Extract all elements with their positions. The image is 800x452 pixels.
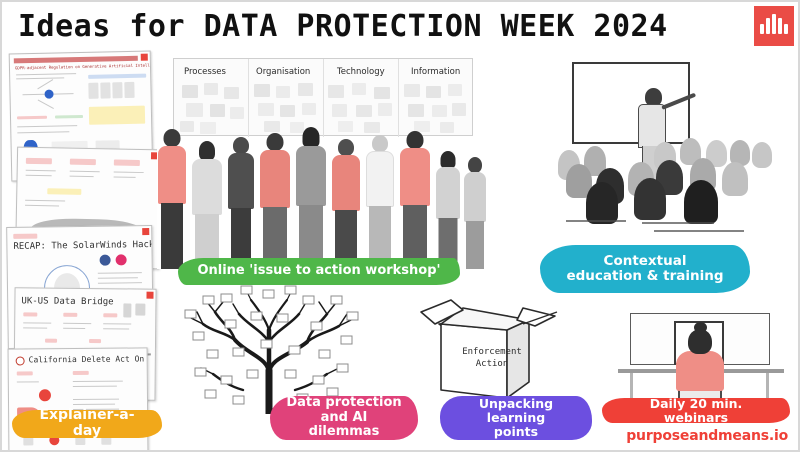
box-label-line2: Action	[476, 359, 509, 369]
classroom-student	[586, 182, 618, 224]
thumbnail-title: California Delete Act On a Page	[29, 354, 149, 364]
webinar-attendee-hair-bun	[694, 322, 707, 333]
board-column-organisation: Organisation	[256, 67, 310, 77]
classroom-student	[684, 180, 718, 224]
brand-url[interactable]: purposeandmeans.io	[626, 428, 788, 444]
webinar-attendee-body	[676, 351, 724, 391]
slide-header: Ideas for DATA PROTECTION WEEK 2024	[2, 2, 800, 50]
board-column-technology: Technology	[337, 67, 385, 77]
page-title: Ideas for DATA PROTECTION WEEK 2024	[18, 9, 668, 44]
waveform-bar	[760, 24, 764, 34]
waveform-bar	[784, 24, 788, 34]
workshop-attendee	[399, 131, 431, 269]
box-label: Enforcement Action	[449, 346, 535, 370]
thumbnail-title: UK-US Data Bridge	[21, 296, 113, 307]
classroom-student	[752, 142, 772, 168]
waveform-bar	[766, 18, 770, 34]
workshop-attendee	[435, 151, 461, 269]
workshop-attendee	[365, 135, 395, 269]
callout-online-workshop[interactable]: Online 'issue to action workshop'	[178, 258, 460, 285]
desk-leg-left	[630, 373, 633, 399]
classroom-student	[634, 178, 666, 220]
workshop-attendee	[157, 129, 187, 269]
audio-waveform-icon	[754, 6, 794, 46]
box-label-line1: Enforcement	[462, 347, 522, 357]
classroom-illustration	[550, 54, 790, 254]
webinar-desk-illustration	[612, 307, 792, 407]
callout-explainer-a-day[interactable]: Explainer-a-day	[12, 410, 162, 438]
thumbnail-brand-mark	[142, 228, 149, 235]
board-column-processes: Processes	[184, 67, 226, 77]
classroom-student	[722, 162, 748, 196]
callout-contextual-education[interactable]: Contextual education & training	[540, 245, 750, 293]
workshop-attendee	[331, 139, 361, 269]
workshop-attendee	[463, 157, 487, 269]
workshop-attendee	[295, 127, 327, 269]
waveform-bar	[778, 18, 782, 34]
slide-canvas: Ideas for DATA PROTECTION WEEK 2024 GDPR…	[0, 0, 800, 452]
thumbnail-title: GDPR-adjacent Regulation on Generative A…	[15, 62, 153, 71]
enforcement-action-box: Enforcement Action	[407, 294, 582, 402]
whiteboard: Processes Organisation Technology Inform…	[173, 58, 473, 136]
workshop-illustration: Processes Organisation Technology Inform…	[157, 54, 487, 269]
callout-data-protection-ai-dilemmas[interactable]: Data protection and AI dilemmas	[270, 396, 418, 440]
waveform-bar	[772, 14, 776, 34]
infographic-thumbnail-stack: GDPR-adjacent Regulation on Generative A…	[4, 48, 164, 428]
workshop-attendee	[259, 133, 291, 269]
thumbnail-brand-mark	[141, 54, 148, 61]
callout-daily-webinars[interactable]: Daily 20 min. webinars	[602, 398, 790, 423]
workshop-attendee	[191, 141, 223, 269]
workshop-attendee	[227, 137, 255, 269]
desk-leg-right	[766, 373, 769, 399]
board-column-information: Information	[411, 67, 460, 77]
thumbnail-brand-mark	[146, 292, 153, 299]
callout-unpacking-learning-points[interactable]: Unpacking learning points	[440, 396, 592, 440]
thumbnail-title: RECAP: The SolarWinds Hack	[13, 240, 153, 252]
